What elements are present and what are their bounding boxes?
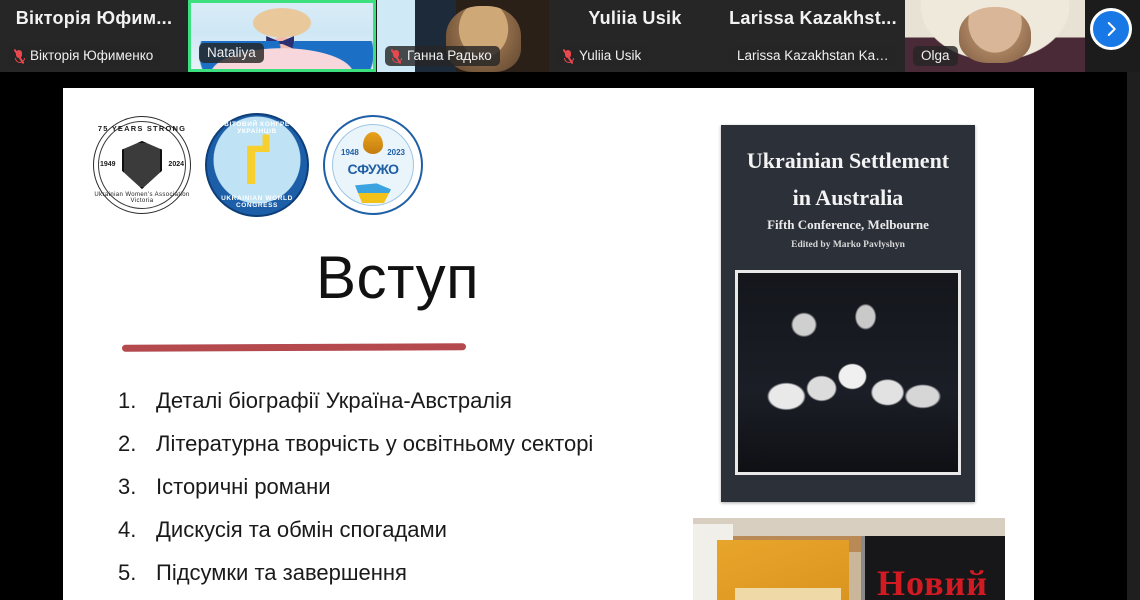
agenda-item-text: Деталі біографії Україна-Австралія bbox=[156, 388, 512, 414]
uwav-logo-icon: 75 YEARS STRONG 1949 2024 Ukrainian Wome… bbox=[93, 116, 191, 214]
uwc-logo-icon: СВІТОВИЙ КОНГРЕС УКРАЇНЦІВ Ґ UKRAINIAN W… bbox=[205, 113, 309, 217]
uwc-logo-band-bottom: UKRAINIAN WORLD CONGRESS bbox=[207, 195, 307, 209]
participant-name-pill: Вікторія Юфименко bbox=[8, 46, 161, 66]
sfuzho-logo-word: СФУЖО bbox=[325, 161, 421, 177]
chevron-right-icon bbox=[1102, 20, 1120, 38]
stage-side-strip bbox=[1127, 72, 1140, 600]
participant-label: Вікторія Юфименко bbox=[30, 48, 153, 63]
agenda-item: 3. Історичні романи bbox=[118, 474, 718, 500]
book-cover-image: Ukrainian Settlement in Australia Fifth … bbox=[721, 125, 975, 502]
participant-name-pill: Ганна Радько bbox=[385, 46, 500, 66]
sfuzho-logo-year-right: 2023 bbox=[387, 148, 405, 157]
agenda-item-text: Літературна творчість у освітньому секто… bbox=[156, 431, 593, 457]
participant-tile-nataliya[interactable]: Nataliya bbox=[188, 0, 376, 72]
agenda-item: 4. Дискусія та обмін спогадами bbox=[118, 517, 718, 543]
participant-tile-olga[interactable]: Olga bbox=[905, 0, 1085, 72]
agenda-list: 1. Деталі біографії Україна-Австралія 2.… bbox=[118, 388, 718, 600]
participant-filmstrip[interactable]: Вікторія Юфим... Вікторія Юфименко Natal… bbox=[0, 0, 1140, 72]
participant-tile-larissa[interactable]: Larissa Kazakhst... Larissa Kazakhstan K… bbox=[721, 0, 905, 72]
mic-muted-icon bbox=[14, 49, 25, 63]
agenda-item: 5. Підсумки та завершення bbox=[118, 560, 718, 586]
participant-name-pill: Yuliia Usik bbox=[557, 46, 649, 66]
participant-name-pill: Nataliya bbox=[199, 43, 264, 63]
mic-muted-icon bbox=[563, 49, 574, 63]
participant-display-name: Yuliia Usik bbox=[549, 8, 721, 29]
folk-dancers-photo bbox=[735, 270, 961, 475]
organization-logos: 75 YEARS STRONG 1949 2024 Ukrainian Wome… bbox=[93, 113, 423, 217]
participant-tile-viktoriia[interactable]: Вікторія Юфим... Вікторія Юфименко bbox=[0, 0, 188, 72]
books-on-table-photo: Новий bbox=[693, 518, 1005, 600]
participant-label: Larissa Kazakhstan Karaga... bbox=[737, 48, 889, 63]
participant-tile-hanna[interactable]: Ганна Радько bbox=[377, 0, 549, 72]
flame-icon bbox=[363, 132, 383, 154]
agenda-item-text: Історичні романи bbox=[156, 474, 331, 500]
agenda-item-number: 3. bbox=[118, 474, 144, 500]
agenda-item-text: Дискусія та обмін спогадами bbox=[156, 517, 447, 543]
uwav-logo-year-right: 2024 bbox=[168, 161, 184, 168]
title-underline-rule bbox=[122, 343, 466, 352]
book-title-line2: in Australia bbox=[729, 186, 967, 209]
agenda-item: 2. Літературна творчість у освітньому се… bbox=[118, 431, 718, 457]
participant-label: Ганна Радько bbox=[407, 48, 492, 63]
meeting-window: Вікторія Юфим... Вікторія Юфименко Natal… bbox=[0, 0, 1140, 600]
agenda-item-number: 2. bbox=[118, 431, 144, 457]
participant-label: Olga bbox=[921, 48, 950, 63]
tryzub-icon: Ґ bbox=[243, 137, 270, 193]
agenda-item-number: 1. bbox=[118, 388, 144, 414]
agenda-item-number: 4. bbox=[118, 517, 144, 543]
participant-name-pill: Larissa Kazakhstan Karaga... bbox=[729, 46, 897, 66]
agenda-item-text: Підсумки та завершення bbox=[156, 560, 407, 586]
next-participants-button[interactable] bbox=[1090, 8, 1132, 50]
black-book-title: Новий bbox=[877, 562, 988, 600]
book-subtitle: Fifth Conference, Melbourne bbox=[729, 217, 967, 233]
presentation-slide: 75 YEARS STRONG 1949 2024 Ukrainian Wome… bbox=[63, 88, 1034, 600]
uwav-logo-ring-label: Ukrainian Women's Association Victoria bbox=[94, 192, 190, 204]
book-editor: Edited by Marko Pavlyshyn bbox=[729, 240, 967, 250]
book-title-line1: Ukrainian Settlement bbox=[729, 149, 967, 172]
participant-display-name: Larissa Kazakhst... bbox=[721, 8, 905, 29]
sfuzho-logo-year-left: 1948 bbox=[341, 148, 359, 157]
slide-title: Вступ bbox=[316, 243, 479, 312]
participant-name-pill: Olga bbox=[913, 46, 958, 66]
black-book: Новий bbox=[861, 536, 1005, 600]
shared-screen-stage: 75 YEARS STRONG 1949 2024 Ukrainian Wome… bbox=[0, 72, 1140, 600]
uwav-logo-caption: 75 YEARS STRONG bbox=[94, 124, 190, 133]
uwav-logo-year-left: 1949 bbox=[100, 161, 116, 168]
agenda-item-number: 5. bbox=[118, 560, 144, 586]
participant-display-name: Вікторія Юфим... bbox=[0, 8, 188, 29]
yellow-book bbox=[717, 540, 849, 600]
participant-label: Nataliya bbox=[207, 45, 256, 60]
agenda-item: 1. Деталі біографії Україна-Австралія bbox=[118, 388, 718, 414]
participant-label: Yuliia Usik bbox=[579, 48, 641, 63]
participant-tile-yuliia[interactable]: Yuliia Usik Yuliia Usik bbox=[549, 0, 721, 72]
sfuzho-logo-icon: 1948 2023 СФУЖО bbox=[323, 115, 423, 215]
mic-muted-icon bbox=[391, 49, 402, 63]
